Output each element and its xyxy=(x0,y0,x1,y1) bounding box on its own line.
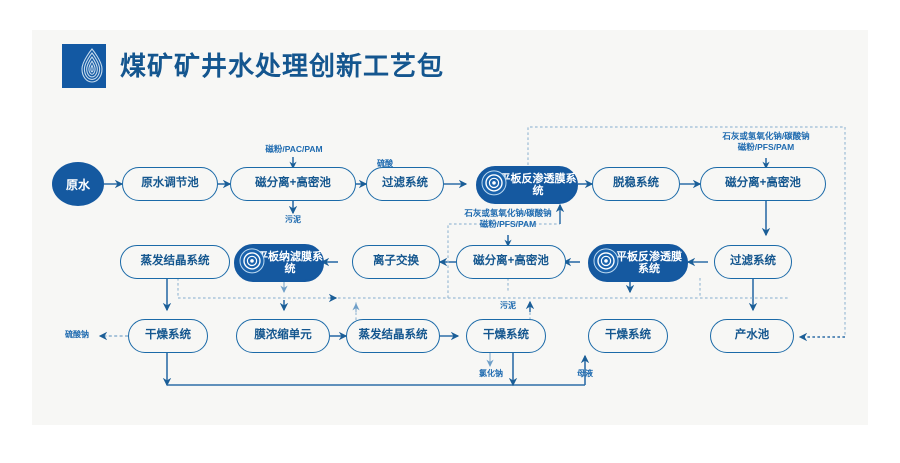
node-dryer-system-3[interactable]: 干燥系统 xyxy=(588,319,668,353)
node-membrane-concentration-unit-label: 膜浓缩单元 xyxy=(254,329,312,342)
node-dryer-system-1[interactable]: 干燥系统 xyxy=(128,319,208,353)
edge-label-sludge-1-text: 污泥 xyxy=(285,215,301,224)
node-membrane-concentration-unit[interactable]: 膜浓缩单元 xyxy=(236,319,330,353)
node-dryer-system-2[interactable]: 干燥系统 xyxy=(466,319,546,353)
edge-label-dosing-3-line1: 石灰或氢氧化钠/碳酸钠 xyxy=(438,208,578,219)
edge-label-mother-liquor-text: 母液 xyxy=(577,369,593,378)
edge-label-sludge-2-text: 污泥 xyxy=(500,301,516,310)
node-filter-system-2[interactable]: 过滤系统 xyxy=(714,245,792,279)
edge-label-dosing-3: 石灰或氢氧化钠/碳酸钠 磁粉/PFS/PAM xyxy=(438,208,578,229)
node-magnetic-separation-hd-1[interactable]: 磁分离+高密池 xyxy=(230,167,356,201)
node-product-water-pool-label: 产水池 xyxy=(735,329,770,342)
page-margin-right xyxy=(868,0,900,463)
node-raw-water-tank-label: 原水调节池 xyxy=(141,177,199,190)
node-dryer-system-1-label: 干燥系统 xyxy=(145,329,191,342)
node-magnetic-separation-hd-3[interactable]: 磁分离+高密池 xyxy=(456,245,566,279)
node-evaporation-crystallization-2-label: 蒸发结晶系统 xyxy=(359,329,428,342)
page-margin-bottom xyxy=(0,425,900,463)
node-magnetic-separation-hd-3-label: 磁分离+高密池 xyxy=(473,255,549,268)
node-evaporation-crystallization-1-label: 蒸发结晶系统 xyxy=(141,255,210,268)
membrane-spiral-icon xyxy=(481,170,507,200)
edge-label-dosing-3-line2: 磁粉/PFS/PAM xyxy=(438,219,578,230)
node-flat-ro-membrane-1[interactable]: 平板反渗透膜系统 xyxy=(476,166,578,204)
page-header: 煤矿矿井水处理创新工艺包 xyxy=(62,44,444,88)
edge-label-sodium-sulfate: 硫酸钠 xyxy=(56,330,98,340)
node-raw-water-tank[interactable]: 原水调节池 xyxy=(122,167,218,201)
node-evaporation-crystallization-2[interactable]: 蒸发结晶系统 xyxy=(346,319,440,353)
node-filter-system-1-label: 过滤系统 xyxy=(382,177,428,190)
node-filter-system-1[interactable]: 过滤系统 xyxy=(366,167,444,201)
edge-label-dosing-2-line2: 磁粉/PFS/PAM xyxy=(696,142,836,153)
node-ion-exchange-label: 离子交换 xyxy=(373,255,419,268)
node-magnetic-separation-hd-2-label: 磁分离+高密池 xyxy=(725,177,801,190)
node-ion-exchange[interactable]: 离子交换 xyxy=(352,245,440,279)
edge-label-sodium-chloride-text: 氯化钠 xyxy=(479,369,503,378)
page-margin-left xyxy=(0,0,32,463)
node-flat-ro-membrane-2[interactable]: 平板反渗透膜系统 xyxy=(588,244,688,282)
node-evaporation-crystallization-1[interactable]: 蒸发结晶系统 xyxy=(120,245,230,279)
edge-label-dosing-2-line1: 石灰或氢氧化钠/碳酸钠 xyxy=(696,131,836,142)
node-flat-nf-membrane[interactable]: 平板纳滤膜系统 xyxy=(234,244,324,282)
node-destabilization-system-label: 脱稳系统 xyxy=(613,177,659,190)
node-magnetic-separation-hd-2[interactable]: 磁分离+高密池 xyxy=(700,167,826,201)
diagram-canvas: 原水 原水调节池 磁分离+高密池 过滤系统 平板反渗透膜系统 脱稳系统 磁分离+… xyxy=(0,0,900,463)
edge-label-sodium-chloride: 氯化钠 xyxy=(470,369,512,379)
edge-label-acid-1: 硫酸 xyxy=(369,159,401,169)
node-filter-system-2-label: 过滤系统 xyxy=(730,255,776,268)
node-raw-water[interactable]: 原水 xyxy=(52,162,104,206)
edge-label-sodium-sulfate-text: 硫酸钠 xyxy=(65,330,89,339)
node-dryer-system-2-label: 干燥系统 xyxy=(483,329,529,342)
edge-label-dosing-1: 磁粉/PAC/PAM xyxy=(247,144,341,155)
page-title: 煤矿矿井水处理创新工艺包 xyxy=(120,53,444,79)
edge-label-acid-1-text: 硫酸 xyxy=(377,159,393,168)
membrane-spiral-icon xyxy=(239,248,265,278)
node-raw-water-label: 原水 xyxy=(66,176,90,193)
node-dryer-system-3-label: 干燥系统 xyxy=(605,329,651,342)
page-margin-top xyxy=(0,0,900,30)
water-droplet-contour-logo xyxy=(62,44,106,88)
edge-label-mother-liquor: 母液 xyxy=(568,369,602,379)
node-destabilization-system[interactable]: 脱稳系统 xyxy=(592,167,680,201)
node-product-water-pool[interactable]: 产水池 xyxy=(710,319,794,353)
edge-label-sludge-1: 污泥 xyxy=(277,215,309,225)
edge-label-dosing-1-text: 磁粉/PAC/PAM xyxy=(265,144,322,154)
edge-label-dosing-2: 石灰或氢氧化钠/碳酸钠 磁粉/PFS/PAM xyxy=(696,131,836,152)
membrane-spiral-icon xyxy=(593,248,619,278)
edge-label-sludge-2: 污泥 xyxy=(492,301,524,311)
node-magnetic-separation-hd-1-label: 磁分离+高密池 xyxy=(255,177,331,190)
